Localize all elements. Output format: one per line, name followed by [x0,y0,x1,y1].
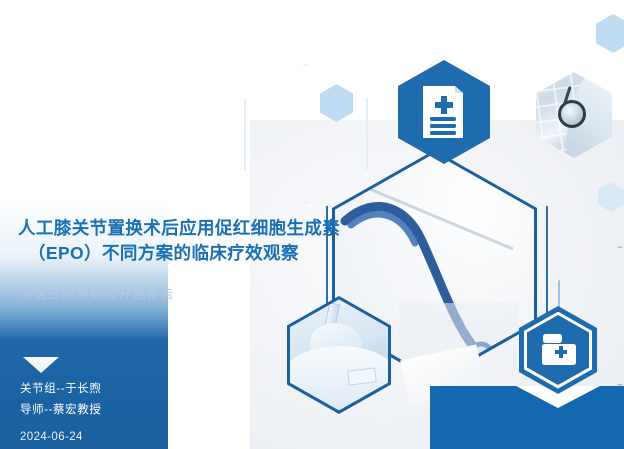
title-line-1: 人工膝关节置换术后应用促红细胞生成素 [18,216,348,241]
hexagon-photo-inner [290,299,388,410]
presentation-cover-slide: 人工膝关节置换术后应用促红细胞生成素 （EPO）不同方案的临床疗效观察 北医三院… [0,0,624,449]
decorative-hexagon-light [596,14,624,53]
author-group-line: 关节组--于长煦 [20,379,101,400]
bottom-right-blue-block [430,386,624,449]
presentation-date: 2024-06-24 [20,427,101,448]
author-advisor-line: 导师--蔡宏教授 [20,400,101,421]
slide-subtitle: 北医三院高研班开题报告 [20,283,175,302]
stethoscope-chestpiece [558,100,586,128]
slide-title: 人工膝关节置换术后应用促红细胞生成素 （EPO）不同方案的临床疗效观察 [18,216,348,266]
medical-bag-icon [541,332,577,366]
author-info-block: 关节组--于长煦 导师--蔡宏教授 2024-06-24 [20,379,101,448]
title-line-2: （EPO）不同方案的临床疗效观察 [18,241,348,266]
medical-document-icon [421,84,467,140]
